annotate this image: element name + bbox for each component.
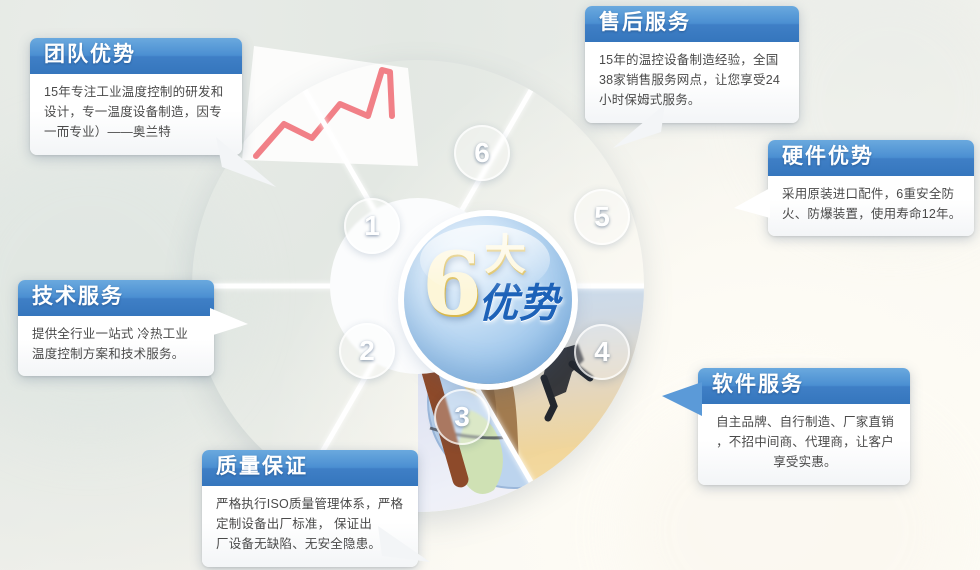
callout-title-after-sales-service: 售后服务 [585, 6, 799, 42]
callout-tail-team-advantage [216, 137, 280, 189]
callout-tail-quality-assurance [378, 522, 434, 570]
callout-body-team-advantage: 15年专注工业温度控制的研发和 设计，专一温度设备制造，因专 一而专业）——奥兰… [30, 74, 242, 155]
callout-body-software-service: 自主品牌、自行制造、厂家直销 ，不招中间商、代理商，让客户 享受实惠。 [698, 404, 910, 485]
wedge-number-1[interactable]: 1 [344, 198, 400, 254]
wedge-number-4[interactable]: 4 [574, 324, 630, 380]
callout-title-team-advantage: 团队优势 [30, 38, 242, 74]
center-badge: 6 大 优势 [404, 216, 572, 384]
callout-tail-hardware-advantage [734, 186, 774, 226]
center-word: 优势 [478, 284, 560, 324]
callout-body-technical-service: 提供全行业一站式 冷热工业 温度控制方案和技术服务。 [18, 316, 214, 377]
callout-tail-after-sales-service [613, 104, 673, 152]
callout-software-service[interactable]: 软件服务 自主品牌、自行制造、厂家直销 ，不招中间商、代理商，让客户 享受实惠。 [698, 368, 910, 485]
wedge-number-5[interactable]: 5 [574, 189, 630, 245]
callout-quality-assurance[interactable]: 质量保证 严格执行ISO质量管理体系，严格 定制设备出厂标准， 保证出 厂设备无… [202, 450, 418, 567]
callout-title-quality-assurance: 质量保证 [202, 450, 418, 486]
wedge-number-3[interactable]: 3 [434, 389, 490, 445]
callout-tail-software-service [662, 382, 706, 428]
callout-title-technical-service: 技术服务 [18, 280, 214, 316]
callout-body-hardware-advantage: 采用原装进口配件，6重安全防 火、防爆装置，使用寿命12年。 [768, 176, 974, 237]
center-number-suffix: 大 [484, 234, 526, 276]
center-badge-text: 6 大 优势 [404, 216, 572, 384]
callout-title-hardware-advantage: 硬件优势 [768, 140, 974, 176]
callout-after-sales-service[interactable]: 售后服务 15年的温控设备制造经验，全国 38家销售服务网点，让您享受24 小时… [585, 6, 799, 123]
infographic-stage: INTC 6 大 优势 1 2 3 4 5 6 [0, 0, 980, 570]
wedge-number-2[interactable]: 2 [339, 323, 395, 379]
callout-tail-technical-service [210, 306, 252, 346]
callout-technical-service[interactable]: 技术服务 提供全行业一站式 冷热工业 温度控制方案和技术服务。 [18, 280, 214, 376]
callout-team-advantage[interactable]: 团队优势 15年专注工业温度控制的研发和 设计，专一温度设备制造，因专 一而专业… [30, 38, 242, 155]
callout-title-software-service: 软件服务 [698, 368, 910, 404]
callout-hardware-advantage[interactable]: 硬件优势 采用原装进口配件，6重安全防 火、防爆装置，使用寿命12年。 [768, 140, 974, 236]
center-number: 6 [422, 242, 480, 328]
wedge-number-6[interactable]: 6 [454, 125, 510, 181]
